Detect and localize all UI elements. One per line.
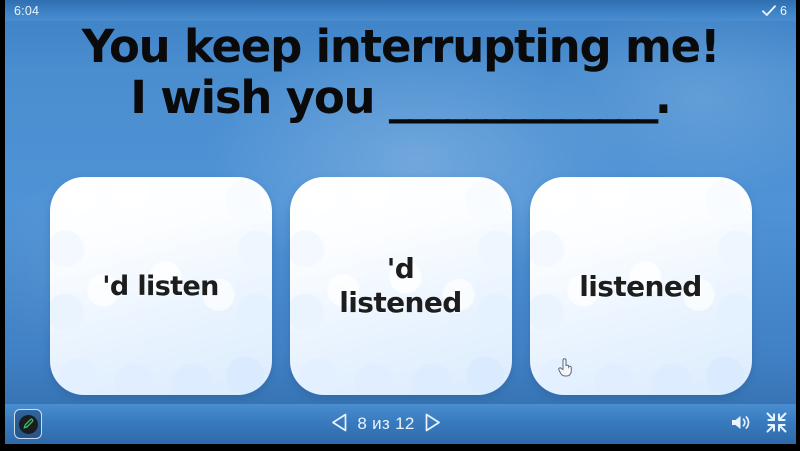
video-player-frame: 6:04 6 You keep interrupting me! I wish … (0, 0, 800, 451)
question-text: You keep interrupting me! I wish you ___… (5, 20, 796, 124)
clock: 6:04 (14, 4, 39, 18)
speaker-icon (730, 413, 752, 436)
quiz-stage: 6:04 6 You keep interrupting me! I wish … (5, 0, 796, 444)
question-line-1: You keep interrupting me! (19, 20, 782, 73)
question-prefix: I wish you (130, 71, 389, 124)
answer-card-3[interactable]: listened (530, 177, 752, 395)
status-bar: 6:04 6 (5, 0, 796, 21)
score-indicator: 6 (762, 4, 787, 18)
pencil-icon (19, 415, 38, 434)
answer-card-2[interactable]: 'd listened (290, 177, 512, 395)
answer-options: 'd listen 'd listened listened (5, 177, 796, 399)
next-slide-button[interactable] (424, 413, 441, 436)
player-control-bar: 8 из 12 (5, 404, 796, 444)
volume-button[interactable] (730, 413, 752, 436)
answer-card-1[interactable]: 'd listen (50, 177, 272, 395)
question-suffix: . (655, 71, 671, 124)
question-line-2: I wish you ______________. (19, 71, 782, 124)
answer-card-1-label: 'd listen (102, 271, 219, 302)
checkmark-icon (762, 5, 776, 17)
exit-fullscreen-button[interactable] (766, 412, 787, 437)
score-value: 6 (780, 4, 787, 18)
slide-counter: 8 из 12 (357, 414, 414, 434)
edit-button[interactable] (14, 409, 42, 439)
previous-slide-button[interactable] (331, 413, 348, 436)
answer-blank: ______________ (389, 71, 655, 124)
answer-card-3-label: listened (579, 271, 701, 302)
collapse-arrows-icon (766, 412, 787, 437)
answer-card-2-label: 'd listened (339, 252, 461, 320)
